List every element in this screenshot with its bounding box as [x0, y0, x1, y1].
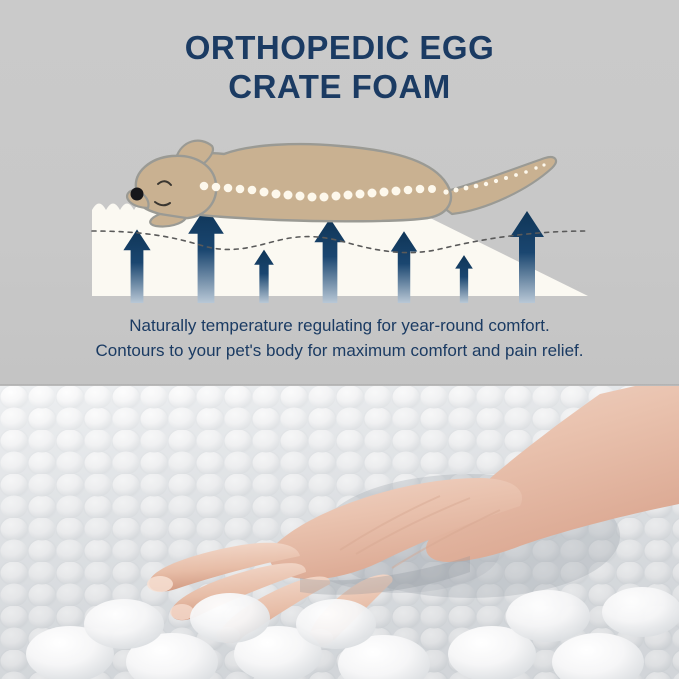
foam-photo-panel: [0, 386, 679, 679]
dog-nose-icon: [131, 188, 144, 201]
sleeping-dog: [127, 141, 556, 227]
page-title-line-2: CRATE FOAM: [0, 67, 679, 106]
hand-pressing-egg-crate-foam-photo: [0, 386, 679, 679]
page-title-line-1: ORTHOPEDIC EGG: [0, 28, 679, 67]
tagline-line-2: Contours to your pet's body for maximum …: [0, 338, 679, 363]
tagline-block: Naturally temperature regulating for yea…: [0, 313, 679, 363]
tagline-line-1: Naturally temperature regulating for yea…: [0, 313, 679, 338]
illustration-panel: ORTHOPEDIC EGG CRATE FOAM: [0, 0, 679, 386]
product-infographic: ORTHOPEDIC EGG CRATE FOAM: [0, 0, 679, 679]
page-title: ORTHOPEDIC EGG CRATE FOAM: [0, 28, 679, 106]
dog-on-foam-illustration: [0, 118, 679, 303]
